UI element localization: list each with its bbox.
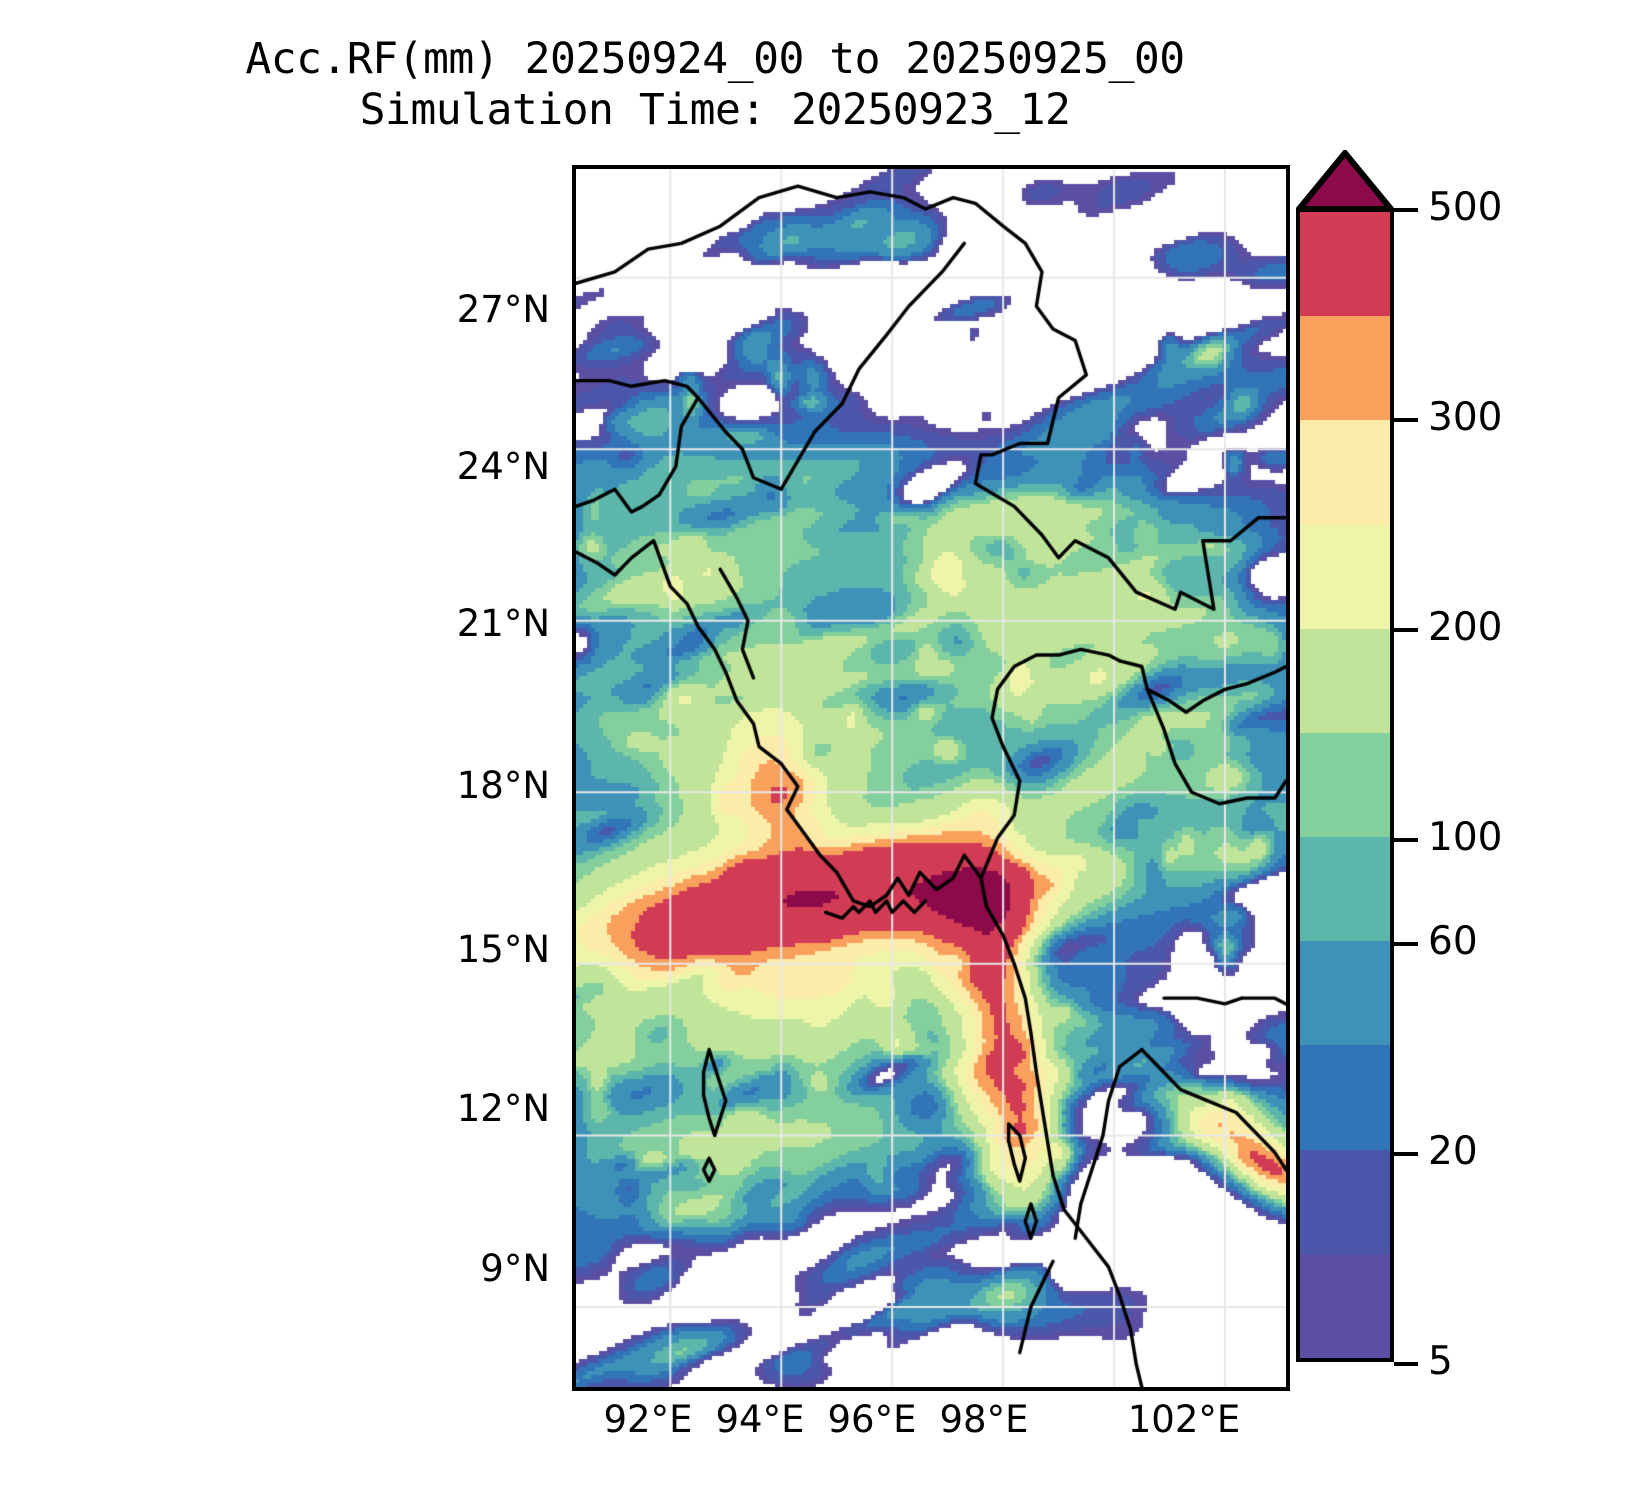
ytick-label: 24°N (310, 445, 550, 488)
colorbar-tick (1394, 1152, 1418, 1156)
colorbar-band (1300, 1254, 1390, 1358)
ytick-label: 9°N (310, 1247, 550, 1290)
colorbar-band (1300, 525, 1390, 629)
title-line-1: Acc.RF(mm) 20250924_00 to 20250925_00 (0, 34, 1430, 85)
colorbar-band (1300, 629, 1390, 733)
chart-title: Acc.RF(mm) 20250924_00 to 20250925_00 Si… (0, 34, 1430, 135)
map-plot-area (572, 165, 1290, 1391)
colorbar-band (1300, 1150, 1390, 1254)
ytick-label: 15°N (310, 928, 550, 971)
colorbar-band (1300, 837, 1390, 941)
ytick-label: 21°N (310, 602, 550, 645)
colorbar-gradient (1296, 208, 1394, 1362)
colorbar-band (1300, 733, 1390, 837)
title-line-2: Simulation Time: 20250923_12 (0, 85, 1430, 136)
xtick-label: 102°E (1084, 1398, 1284, 1441)
ytick-label: 27°N (310, 288, 550, 331)
colorbar-band (1300, 212, 1390, 316)
colorbar-tick-label: 300 (1428, 398, 1502, 437)
colorbar-tick-label: 100 (1428, 818, 1502, 857)
xtick-label: 98°E (884, 1398, 1084, 1441)
colorbar-extend-arrow (1296, 150, 1394, 212)
colorbar-band (1300, 420, 1390, 524)
colorbar-tick-label: 60 (1428, 922, 1478, 961)
ytick-label: 12°N (310, 1087, 550, 1130)
colorbar-tick-label: 200 (1428, 608, 1502, 647)
rainfall-contour-map (576, 169, 1286, 1387)
colorbar-tick (1394, 628, 1418, 632)
colorbar-tick (1394, 1362, 1418, 1366)
colorbar-tick-label: 500 (1428, 188, 1502, 227)
colorbar-tick (1394, 208, 1418, 212)
colorbar-tick (1394, 838, 1418, 842)
colorbar: 50030020010060205 (1296, 150, 1596, 1400)
ytick-label: 18°N (310, 764, 550, 807)
colorbar-tick-label: 5 (1428, 1342, 1453, 1381)
colorbar-tick-label: 20 (1428, 1132, 1478, 1171)
colorbar-tick (1394, 942, 1418, 946)
colorbar-band (1300, 316, 1390, 420)
colorbar-band (1300, 941, 1390, 1045)
colorbar-tick (1394, 418, 1418, 422)
colorbar-band (1300, 1045, 1390, 1149)
